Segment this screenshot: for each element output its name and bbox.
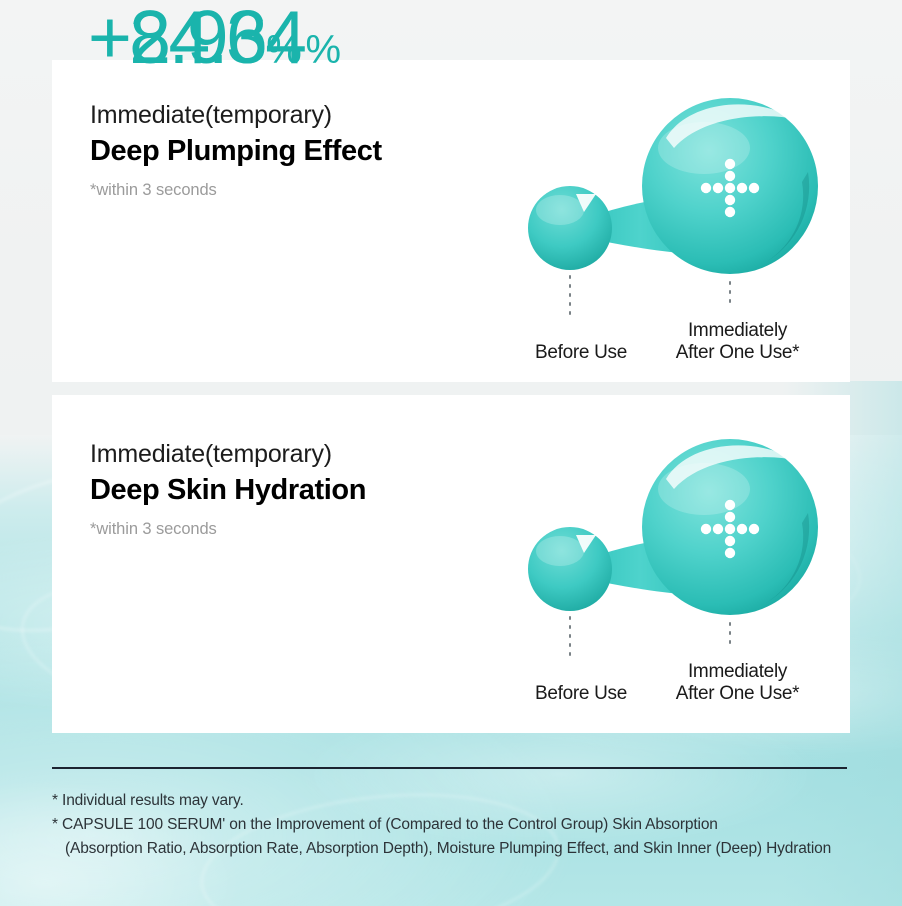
stat-value: +24.64 [88,0,304,75]
card-deep-plumping-effect: Immediate(temporary) Deep Plumping Effec… [52,60,850,382]
droplet-illustration [498,86,828,326]
label-before-use: Before Use [506,683,656,705]
label-after-line2: After One Use* [676,342,800,363]
label-after-line1: Immediately [688,320,787,341]
figure-labels: Before Use Immediately After One Use* [498,320,828,364]
footnote-line-3: (Absorption Ratio, Absorption Rate, Abso… [52,837,864,861]
footnote-line-2: * CAPSULE 100 SERUM' on the Improvement … [52,813,864,837]
droplet-comparison-figure: Before Use Immediately After One Use* [498,86,828,366]
label-after-line2: After One Use* [676,683,800,704]
footnote-line-1: * Individual results may vary. [52,789,864,813]
label-before-use: Before Use [506,342,656,364]
label-after-line1: Immediately [688,661,787,682]
label-after-one-use: Immediately After One Use* [645,661,830,705]
droplet-illustration [498,427,828,667]
large-droplet-sheen [658,463,750,515]
card-headline: Deep Skin Hydration [90,472,366,509]
content-stage: Immediate(temporary) Deep Plumping Effec… [0,0,902,906]
footer-divider [52,767,847,769]
card-text-block: Immediate(temporary) Deep Skin Hydration… [90,439,366,539]
droplet-comparison-figure: Before Use Immediately After One Use* [498,427,828,707]
small-droplet-sheen [536,536,584,566]
stat-unit: % [305,30,340,70]
card-eyebrow: Immediate(temporary) [90,100,382,131]
label-after-one-use: Immediately After One Use* [645,320,830,364]
footnotes: * Individual results may vary. * CAPSULE… [52,789,864,861]
large-droplet-sheen [658,122,750,174]
card-deep-skin-hydration: Immediate(temporary) Deep Skin Hydration… [52,395,850,733]
card-subnote: *within 3 seconds [90,181,382,200]
small-droplet-sheen [536,195,584,225]
card-text-block: Immediate(temporary) Deep Plumping Effec… [90,100,382,200]
card-headline: Deep Plumping Effect [90,133,382,170]
card-subnote: *within 3 seconds [90,520,366,539]
card-eyebrow: Immediate(temporary) [90,439,366,470]
figure-labels: Before Use Immediately After One Use* [498,661,828,705]
stat-deep-skin-hydration: +24.64 % [88,0,340,75]
